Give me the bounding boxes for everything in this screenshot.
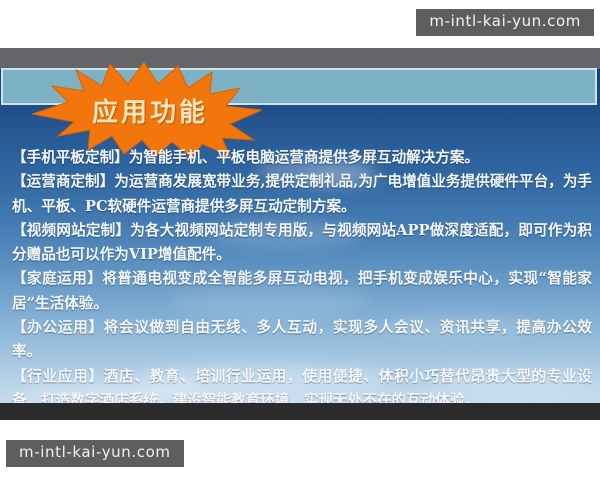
presentation-slide: 应用功能 【手机平板定制】为智能手机、平板电脑运营商提供多屏互动解决方案。 【运…: [0, 48, 600, 403]
slide-bottom-bar: [0, 403, 600, 421]
body-paragraph: 【视频网站定制】为各大视频网站定制专用版，与视频网站APP做深度适配，即可作为积…: [12, 219, 592, 268]
body-paragraph: 【行业应用】酒店、教育、培训行业运用，使用便捷、体积小巧替代昂贵大型的专业设备，…: [12, 365, 592, 403]
body-paragraph: 【办公运用】将会议做到自由无线、多人互动，实现多人会议、资讯共享，提高办公效率。: [12, 316, 592, 365]
starburst-badge: 应用功能: [32, 62, 262, 158]
badge-label: 应用功能: [32, 62, 262, 158]
body-paragraph: 【手机平板定制】为智能手机、平板电脑运营商提供多屏互动解决方案。: [12, 146, 592, 170]
slide-body-text: 【手机平板定制】为智能手机、平板电脑运营商提供多屏互动解决方案。 【运营商定制】…: [12, 146, 592, 403]
body-paragraph: 【运营商定制】为运营商发展宽带业务,提供定制礼品,为广电增值业务提供硬件平台，为…: [12, 170, 592, 219]
body-paragraph: 【家庭运用】将普通电视变成全智能多屏互动电视，把手机变成娱乐中心，实现“智能家居…: [12, 267, 592, 316]
watermark-top: m-intl-kai-yun.com: [416, 9, 594, 36]
watermark-bottom: m-intl-kai-yun.com: [6, 440, 184, 467]
